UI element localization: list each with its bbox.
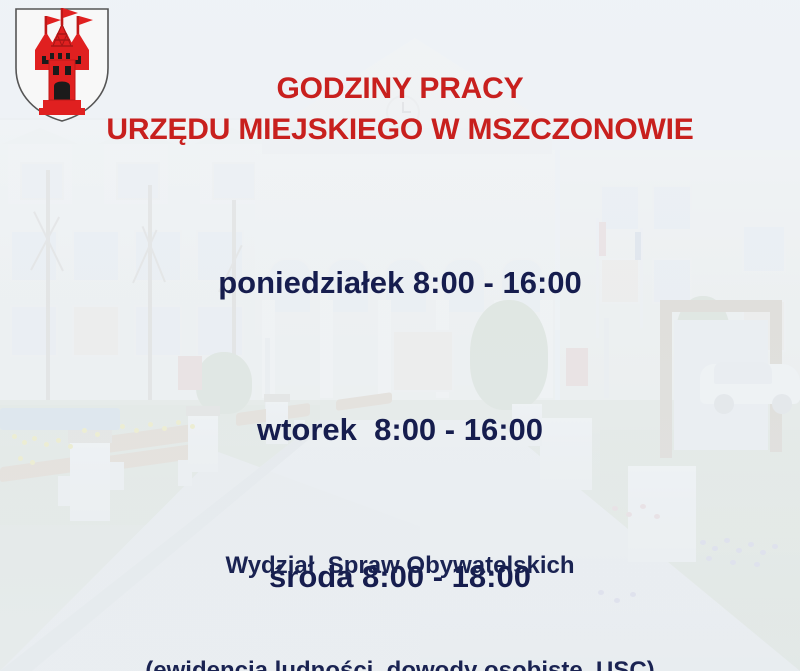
hours-row-monday: poniedziałek 8:00 - 16:00 [0, 258, 800, 307]
department-note: Wydział Spraw Obywatelskich (ewidencja l… [0, 478, 800, 671]
working-hours-poster: GODZINY PRACY URZĘDU MIEJSKIEGO W MSZCZO… [0, 0, 800, 671]
title-line-2: URZĘDU MIEJSKIEGO W MSZCZONOWIE [0, 109, 800, 150]
poster-title: GODZINY PRACY URZĘDU MIEJSKIEGO W MSZCZO… [0, 68, 800, 150]
title-line-1: GODZINY PRACY [277, 72, 524, 105]
department-note-line-2: (ewidencja ludności, dowody osobiste, US… [0, 653, 800, 671]
hours-row-tuesday: wtorek 8:00 - 16:00 [0, 405, 800, 454]
department-note-line-1: Wydział Spraw Obywatelskich [0, 548, 800, 583]
